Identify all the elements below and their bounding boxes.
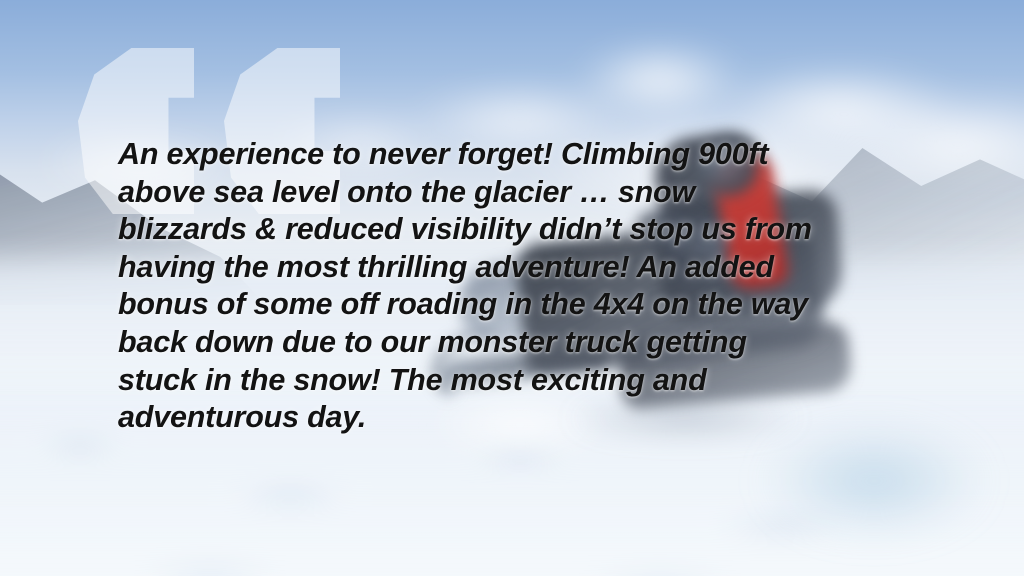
quote-line: having the most thrilling adventure! An … — [118, 249, 928, 287]
quote-line: back down due to our monster truck getti… — [118, 324, 928, 362]
quote-line: adventurous day. — [118, 399, 928, 437]
testimonial-quote-card: An experience to never forget! Climbing … — [0, 0, 1024, 576]
quote-line: An experience to never forget! Climbing … — [118, 136, 928, 174]
quote-line: bonus of some off roading in the 4x4 on … — [118, 286, 928, 324]
quote-line: above sea level onto the glacier … snow — [118, 174, 928, 212]
quote-line: stuck in the snow! The most exciting and — [118, 362, 928, 400]
testimonial-quote-text: An experience to never forget! Climbing … — [118, 136, 928, 437]
quote-line: blizzards & reduced visibility didn’t st… — [118, 211, 928, 249]
